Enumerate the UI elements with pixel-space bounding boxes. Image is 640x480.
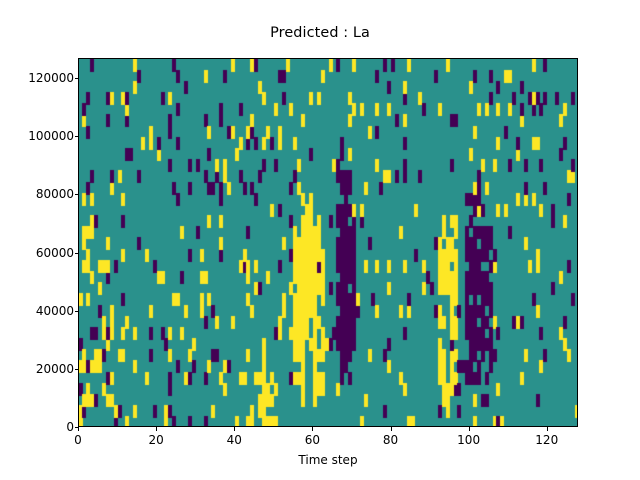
y-tick-mark [75, 136, 79, 137]
x-tick-label: 100 [457, 433, 480, 447]
y-axis-ticks: 020000400006000080000100000120000 [0, 0, 74, 480]
y-tick-label: 0 [6, 420, 74, 434]
y-tick-mark [75, 369, 79, 370]
x-tick-label: 60 [305, 433, 320, 447]
x-tick-label: 40 [227, 433, 242, 447]
x-tick-label: 0 [74, 433, 82, 447]
x-tick-mark [234, 427, 235, 431]
y-tick-mark [75, 253, 79, 254]
x-tick-label: 120 [535, 433, 558, 447]
y-tick-label: 60000 [6, 246, 74, 260]
y-tick-mark [75, 78, 79, 79]
y-tick-label: 120000 [6, 71, 74, 85]
y-tick-label: 80000 [6, 187, 74, 201]
x-axis-label: Time step [78, 453, 578, 467]
y-tick-label: 100000 [6, 129, 74, 143]
y-tick-mark [75, 194, 79, 195]
y-tick-label: 40000 [6, 304, 74, 318]
x-tick-label: 80 [383, 433, 398, 447]
x-tick-mark [78, 427, 79, 431]
y-tick-label: 20000 [6, 362, 74, 376]
x-tick-label: 20 [148, 433, 163, 447]
x-tick-mark [156, 427, 157, 431]
x-tick-mark [547, 427, 548, 431]
heatmap-image [79, 59, 578, 427]
matplotlib-figure: Predicted : La 0200004000060000800001000… [0, 0, 640, 480]
heatmap-axes [78, 58, 578, 427]
y-tick-mark [75, 311, 79, 312]
chart-title: Predicted : La [0, 25, 640, 41]
x-tick-mark [391, 427, 392, 431]
x-tick-mark [469, 427, 470, 431]
x-tick-mark [312, 427, 313, 431]
